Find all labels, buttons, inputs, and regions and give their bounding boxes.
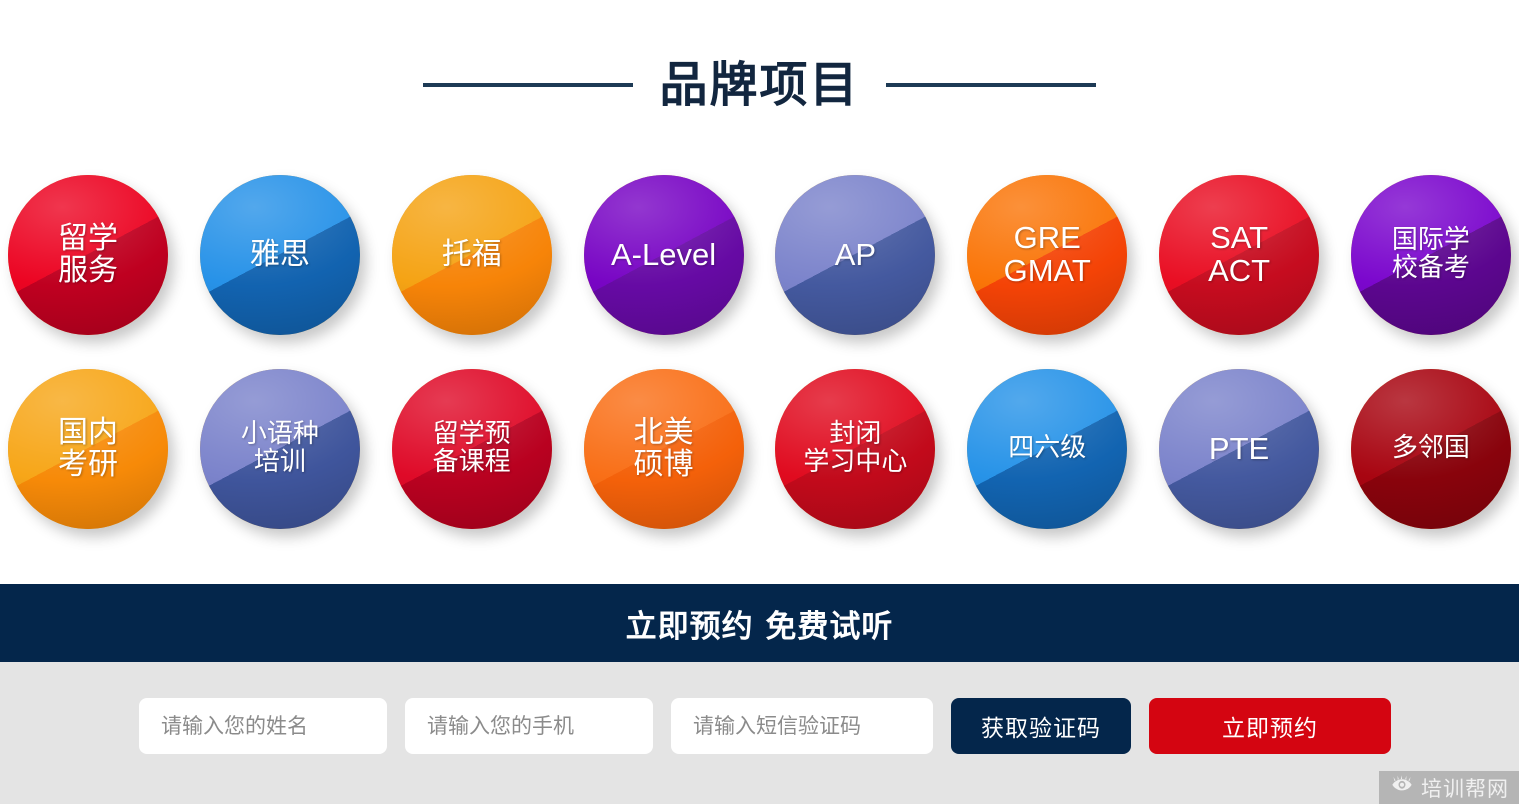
program-label: 多邻国 bbox=[1392, 435, 1470, 463]
title-rule-right bbox=[886, 83, 1096, 87]
program-bubble-pte[interactable]: PTE bbox=[1159, 369, 1319, 529]
program-label: SAT ACT bbox=[1208, 222, 1270, 288]
program-row-1: 留学 服务 雅思 托福 A-Level AP GRE GMAT SAT ACT … bbox=[0, 175, 1519, 365]
program-bubble-a-level[interactable]: A-Level bbox=[584, 175, 744, 335]
submit-booking-button[interactable]: 立即预约 bbox=[1149, 698, 1391, 754]
program-bubble-liuxueyubeikecheng[interactable]: 留学预 备课程 bbox=[392, 369, 552, 529]
program-label: 国内 考研 bbox=[58, 417, 118, 481]
program-label: PTE bbox=[1209, 433, 1269, 466]
program-label: 北美 硕博 bbox=[634, 417, 694, 481]
site-watermark: 培训帮网 bbox=[1379, 771, 1519, 804]
cta-band: 立即预约 免费试听 bbox=[0, 584, 1519, 662]
get-sms-code-button[interactable]: 获取验证码 bbox=[951, 698, 1131, 754]
program-grid: 留学 服务 雅思 托福 A-Level AP GRE GMAT SAT ACT … bbox=[0, 175, 1519, 565]
eye-icon bbox=[1391, 775, 1413, 800]
title-rule-left bbox=[423, 83, 633, 87]
program-row-2: 国内 考研 小语种 培训 留学预 备课程 北美 硕博 封闭 学习中心 四六级 P… bbox=[0, 369, 1519, 559]
program-bubble-gre-gmat[interactable]: GRE GMAT bbox=[967, 175, 1127, 335]
page-title: 品牌项目 bbox=[659, 61, 859, 109]
watermark-label: 培训帮网 bbox=[1421, 773, 1509, 803]
program-label: 雅思 bbox=[250, 239, 310, 271]
program-label: A-Level bbox=[611, 239, 716, 272]
program-label: 小语种 培训 bbox=[241, 421, 319, 476]
program-label: 封闭 学习中心 bbox=[777, 421, 933, 476]
phone-input[interactable] bbox=[405, 698, 653, 754]
program-label: 留学 服务 bbox=[58, 223, 118, 287]
program-label: GRE GMAT bbox=[1004, 222, 1091, 288]
program-label: AP bbox=[835, 239, 876, 272]
program-bubble-duolinguo[interactable]: 多邻国 bbox=[1351, 369, 1511, 529]
signup-form-band: 获取验证码 立即预约 bbox=[0, 662, 1519, 804]
program-label: 留学预 备课程 bbox=[433, 421, 511, 476]
name-input[interactable] bbox=[139, 698, 387, 754]
program-bubble-liuxuefuwu[interactable]: 留学 服务 bbox=[8, 175, 168, 335]
program-label: 四六级 bbox=[1008, 435, 1086, 463]
program-bubble-beimeishuobo[interactable]: 北美 硕博 bbox=[584, 369, 744, 529]
cta-title: 立即预约 免费试听 bbox=[626, 601, 894, 646]
program-bubble-xiaoyuzhongpeixun[interactable]: 小语种 培训 bbox=[200, 369, 360, 529]
page-header: 品牌项目 bbox=[0, 0, 1519, 170]
program-bubble-guoneikaoyan[interactable]: 国内 考研 bbox=[8, 369, 168, 529]
program-bubble-fengbixuexizhongxin[interactable]: 封闭 学习中心 bbox=[775, 369, 935, 529]
sms-code-input[interactable] bbox=[671, 698, 933, 754]
program-bubble-siliuji[interactable]: 四六级 bbox=[967, 369, 1127, 529]
program-bubble-guojixuexiaobeikao[interactable]: 国际学 校备考 bbox=[1351, 175, 1511, 335]
program-bubble-sat-act[interactable]: SAT ACT bbox=[1159, 175, 1319, 335]
program-bubble-tuofu[interactable]: 托福 bbox=[392, 175, 552, 335]
program-label: 国际学 校备考 bbox=[1392, 227, 1470, 282]
signup-form: 获取验证码 立即预约 bbox=[139, 698, 1391, 754]
program-bubble-ap[interactable]: AP bbox=[775, 175, 935, 335]
program-label: 托福 bbox=[442, 239, 502, 271]
program-bubble-yasi[interactable]: 雅思 bbox=[200, 175, 360, 335]
